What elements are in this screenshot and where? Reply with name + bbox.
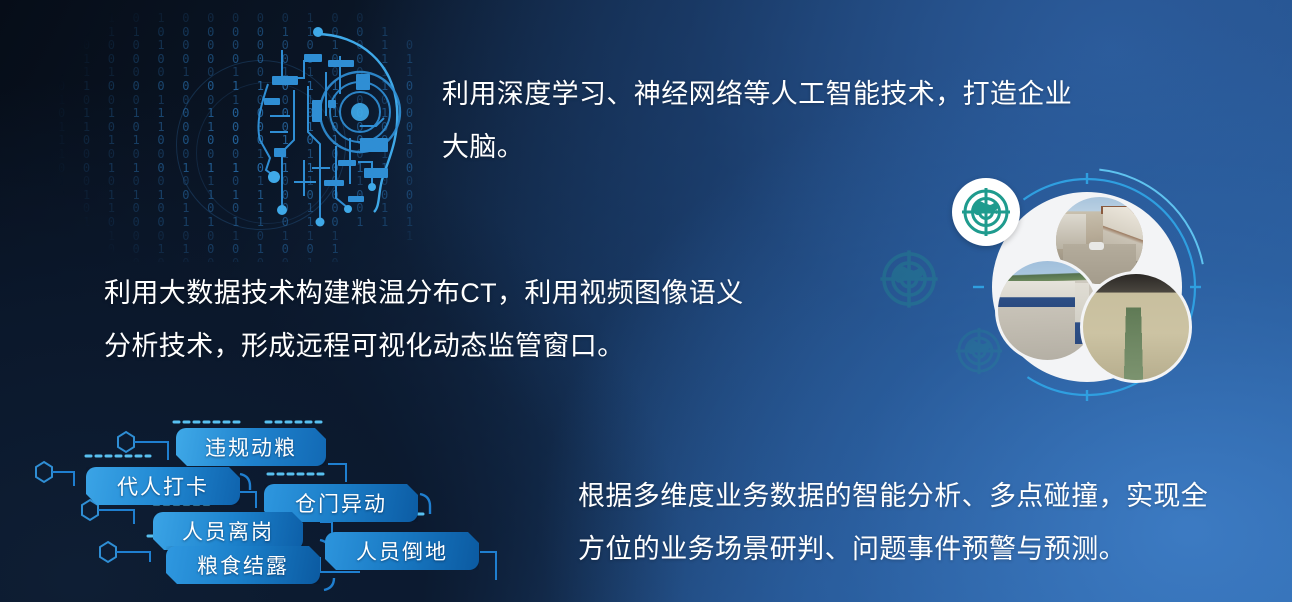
photo-granary-interior — [1080, 271, 1192, 383]
binary-row: 1 1 0 0 0 0 0 0 0 0 1 0 0 0 0 1 — [58, 257, 418, 262]
tag-pill[interactable]: 人员倒地 — [325, 532, 479, 570]
slide-canvas: 0 0 1 0 1 0 0 0 0 0 1 0 00 0 1 1 0 0 0 0… — [0, 0, 1292, 602]
tag-pill[interactable]: 粮食结露 — [166, 546, 320, 584]
tag-pill[interactable]: 代人打卡 — [86, 467, 240, 505]
radar-target-icon-ghost-1 — [878, 248, 940, 310]
paragraph-grain-ct: 利用大数据技术构建粮温分布CT，利用视频图像语义 分析技术，形成远程可视化动态监… — [104, 267, 824, 373]
radar-target-icon — [952, 178, 1020, 246]
tag-pill[interactable]: 违规动粮 — [176, 428, 326, 466]
paragraph-multi-dimension: 根据多维度业务数据的智能分析、多点碰撞，实现全 方位的业务场景研判、问题事件预警… — [578, 470, 1278, 576]
ai-brain-illustration: 0 0 1 0 1 0 0 0 0 0 1 0 00 0 1 1 0 0 0 0… — [58, 12, 418, 262]
paragraph-ai-brain: 利用深度学习、神经网络等人工智能技术，打造企业 大脑。 — [442, 68, 1122, 174]
radar-target-icon-ghost-2 — [954, 326, 1004, 376]
binary-row: 0 0 0 0 1 1 0 0 1 0 0 1 1 1 0 1 — [58, 243, 418, 257]
tag-pill[interactable]: 人员离岗 — [153, 512, 303, 550]
ai-circuit-head-icon — [208, 20, 423, 245]
photo-yard-watermark — [1012, 346, 1071, 354]
alert-scenario-tags: 违规动粮 代人打卡 仓门异动 人员离岗 人员倒地 粮食结露 — [28, 412, 548, 602]
monitoring-photo-cluster — [940, 176, 1230, 396]
